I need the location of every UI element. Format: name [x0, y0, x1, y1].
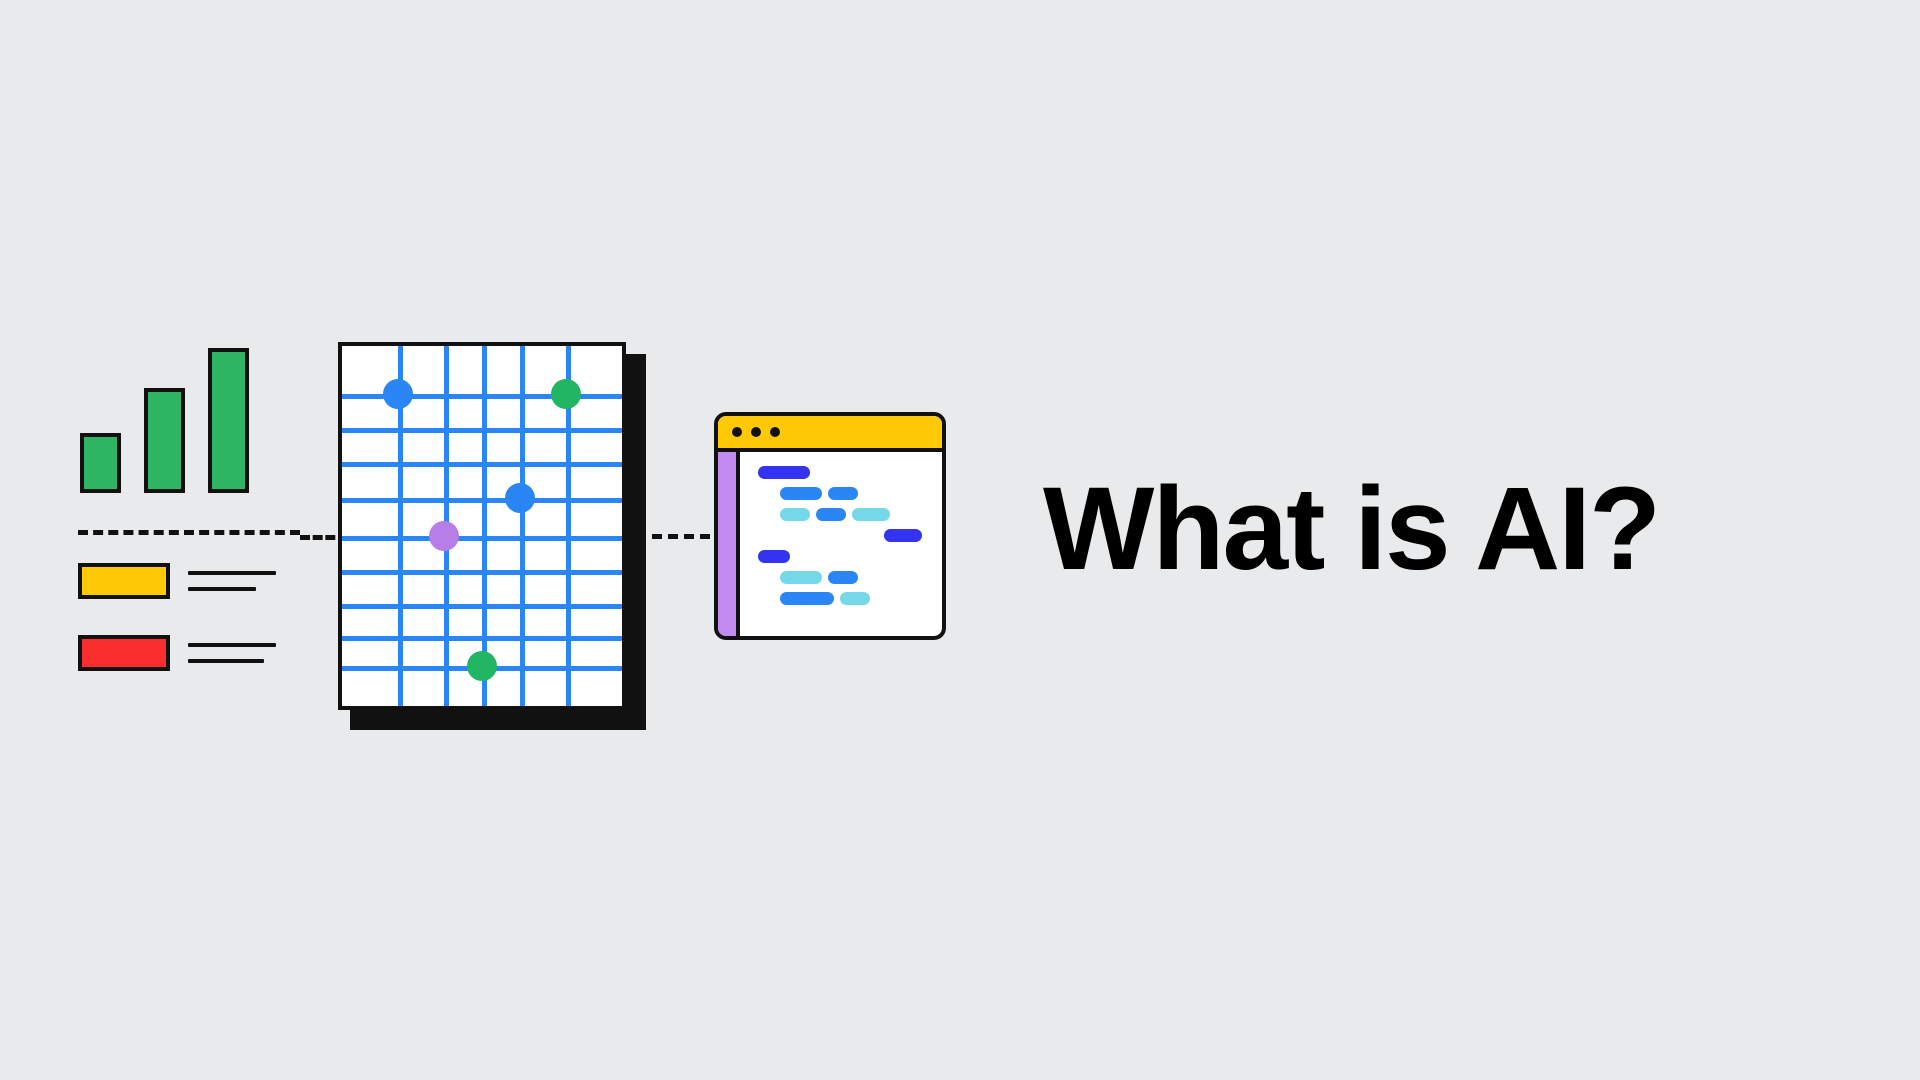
window-titlebar: [718, 416, 942, 452]
traffic-light-maximize-icon: [770, 427, 780, 437]
data-point-green: [467, 651, 497, 681]
data-point-green: [551, 379, 581, 409]
chart-legend: [78, 562, 308, 706]
bar-group: [80, 318, 270, 493]
legend-label-lines-yellow: [188, 571, 276, 591]
bar-chart-block: [70, 330, 310, 690]
bar-3: [208, 348, 249, 493]
code-content-area: [744, 452, 942, 636]
legend-text-line: [188, 587, 256, 591]
code-line: [752, 529, 934, 542]
traffic-light-close-icon: [732, 427, 742, 437]
code-token: [780, 508, 810, 521]
legend-row-yellow: [78, 562, 308, 600]
bar-2: [144, 388, 185, 493]
code-token: [884, 529, 922, 542]
connector-grid-to-code: [652, 534, 710, 539]
code-token: [780, 571, 822, 584]
grid-line-horizontal: [342, 462, 622, 467]
grid-line-horizontal: [342, 636, 622, 641]
code-token: [780, 487, 822, 500]
legend-label-lines-red: [188, 643, 276, 663]
code-token: [828, 571, 858, 584]
traffic-light-minimize-icon: [751, 427, 761, 437]
spreadsheet-grid-card: [338, 342, 626, 710]
code-token: [840, 592, 870, 605]
legend-swatch-yellow: [78, 563, 170, 599]
code-token: [758, 466, 810, 479]
code-token: [816, 508, 846, 521]
bar-1: [80, 433, 121, 493]
grid-line-horizontal: [342, 604, 622, 609]
grid-card-wrapper: [338, 342, 638, 722]
code-line: [752, 508, 934, 521]
legend-swatch-red: [78, 635, 170, 671]
data-point-blue: [383, 379, 413, 409]
illustration-canvas: What is AI?: [0, 0, 1920, 1080]
grid-line-vertical: [520, 346, 525, 706]
grid-line-horizontal: [342, 536, 622, 541]
grid-line-horizontal: [342, 498, 622, 503]
code-line: [752, 571, 934, 584]
legend-text-line: [188, 571, 276, 575]
code-editor-window: [714, 412, 946, 640]
code-token: [780, 592, 834, 605]
grid-line-horizontal: [342, 428, 622, 433]
code-line: [752, 466, 934, 479]
code-token: [758, 550, 790, 563]
editor-sidebar: [718, 452, 740, 636]
legend-text-line: [188, 643, 276, 647]
legend-text-line: [188, 659, 264, 663]
grid-line-horizontal: [342, 570, 622, 575]
code-line: [752, 550, 934, 563]
dashed-baseline: [78, 530, 300, 535]
code-line: [752, 592, 934, 605]
code-token: [852, 508, 890, 521]
code-line: [752, 487, 934, 500]
code-token: [828, 487, 858, 500]
legend-row-red: [78, 634, 308, 672]
data-point-purple: [429, 521, 459, 551]
page-title: What is AI?: [1043, 470, 1659, 588]
data-point-blue: [505, 483, 535, 513]
